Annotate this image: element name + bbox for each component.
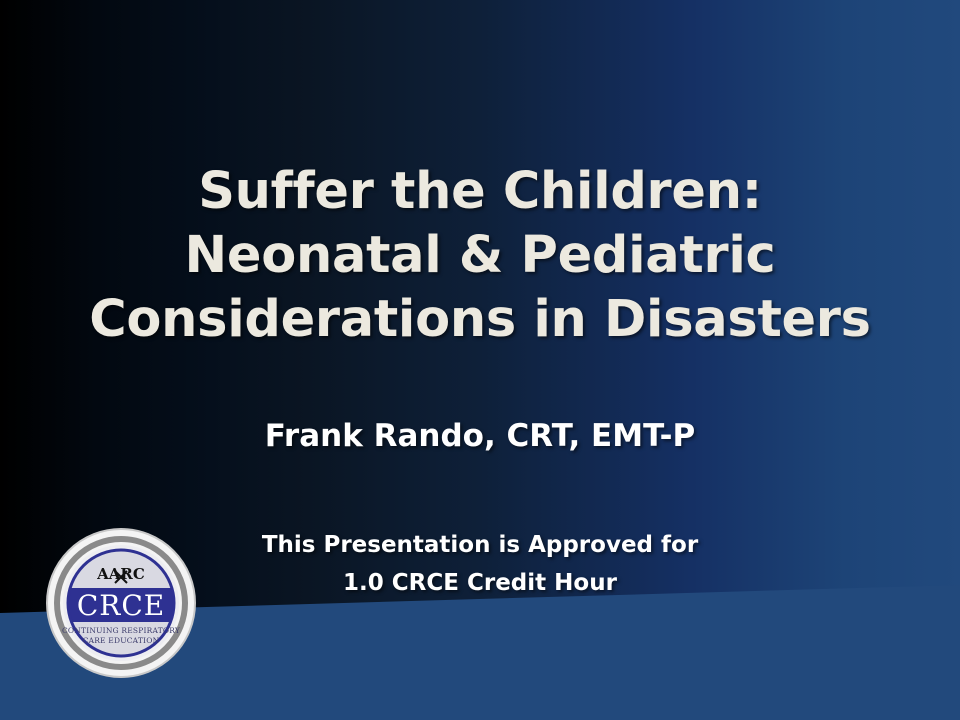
presentation-slide: Suffer the Children: Neonatal & Pediatri… [0, 0, 960, 720]
title-line-1: Suffer the Children: [0, 160, 960, 224]
title-line-3: Considerations in Disasters [0, 288, 960, 352]
title-line-2: Neonatal & Pediatric [0, 224, 960, 288]
crce-seal: AARC CRCE CONTINUING RESPIRATORY CARE ED… [45, 527, 197, 679]
slide-title: Suffer the Children: Neonatal & Pediatri… [0, 160, 960, 352]
crce-acronym: CRCE [77, 589, 165, 622]
aarc-mark-label: AARC [96, 565, 145, 583]
crce-tagline-line-2: CARE EDUCATION [83, 636, 160, 645]
aarc-mark: AARC [96, 565, 145, 583]
author-name: Frank Rando, CRT, EMT-P [0, 418, 960, 454]
crce-tagline-line-1: CONTINUING RESPIRATORY [62, 626, 181, 635]
